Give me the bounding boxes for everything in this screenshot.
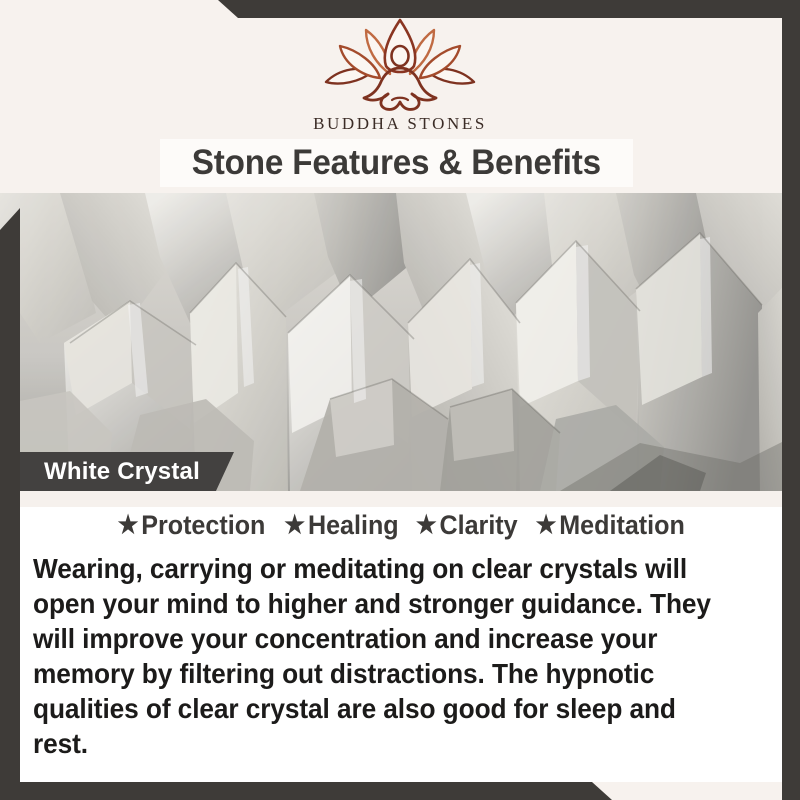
benefit-item-meditation: ★Meditation (536, 510, 685, 541)
benefit-label: Protection (141, 510, 265, 540)
benefit-label: Meditation (559, 510, 685, 540)
benefit-item-clarity: ★Clarity (415, 510, 517, 541)
benefit-label: Clarity (439, 510, 517, 540)
page-title: Stone Features & Benefits (192, 143, 601, 183)
description-text: Wearing, carrying or meditating on clear… (33, 551, 736, 761)
star-icon: ★ (415, 511, 436, 539)
brand-name: BUDDHA STONES (0, 114, 800, 134)
frame-bar-right (782, 0, 800, 800)
panel-top-fade (20, 491, 782, 507)
poster-root: BUDDHA STONES Stone Features & Benefits (0, 0, 800, 800)
header: BUDDHA STONES Stone Features & Benefits (0, 0, 800, 193)
lotus-meditation-icon (310, 16, 490, 112)
benefit-item-protection: ★Protection (117, 510, 265, 541)
star-icon: ★ (284, 511, 305, 539)
frame-bar-top (218, 0, 800, 18)
stone-photo (0, 193, 800, 491)
star-icon: ★ (536, 511, 557, 539)
stone-label: White Crystal (20, 452, 234, 491)
star-icon: ★ (117, 511, 138, 539)
crystal-cluster-illustration (0, 193, 800, 491)
benefit-label: Healing (307, 510, 398, 540)
frame-bar-bottom (0, 782, 612, 800)
stone-label-text: White Crystal (44, 458, 200, 486)
title-band: Stone Features & Benefits (160, 139, 633, 187)
content-panel: ★Protection★Healing★Clarity★Meditation W… (20, 491, 782, 782)
brand-logo: BUDDHA STONES (0, 16, 800, 134)
frame-bar-left (0, 208, 20, 800)
benefits-row: ★Protection★Healing★Clarity★Meditation (20, 510, 782, 541)
benefit-item-healing: ★Healing (284, 510, 398, 541)
